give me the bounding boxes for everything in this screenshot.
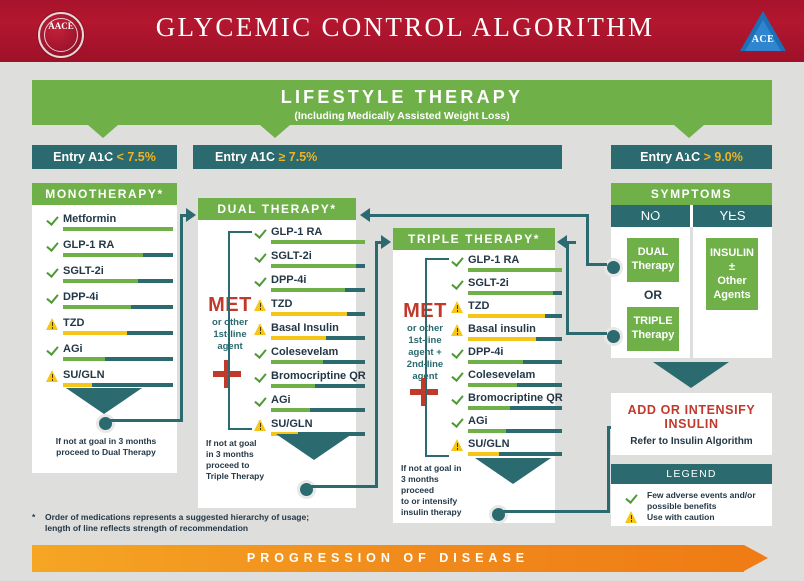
mono-4-caution-bang (52, 322, 54, 326)
med-label: Bromocriptine QR (468, 392, 563, 404)
progression-label: PROGRESSION OF DISEASE (32, 545, 744, 572)
med-strength-bar (468, 429, 562, 433)
legend-caution-bang (631, 515, 633, 519)
legend-title: LEGEND (611, 464, 772, 484)
progression-arrow-icon (744, 545, 768, 571)
insulin-title-line1: ADD OR INTENSIFY (611, 403, 772, 417)
dual-2-check-glyph (254, 274, 266, 287)
monotherapy-title: MONOTHERAPY* (32, 183, 177, 205)
med-label: Basal insulin (468, 323, 536, 335)
med-strength-fill (271, 384, 315, 388)
symptoms-yes-notch-icon (722, 205, 744, 214)
footnote-line2: length of line reflects strength of reco… (45, 523, 462, 534)
med-strength-fill (468, 314, 545, 318)
med-label: TZD (468, 300, 489, 312)
line-dual-to-triple-h (310, 485, 378, 488)
line-triple-to-insulin-h (502, 510, 610, 513)
med-strength-fill (468, 268, 562, 272)
med-label: Colesevelam (271, 346, 338, 358)
triple-8-caution-icon (451, 439, 465, 452)
aace-logo-icon: AACE (38, 12, 84, 58)
triple-3-caution-dot (457, 333, 459, 335)
triple-8-caution-dot (457, 448, 459, 450)
triple-therapy-card: TRIPLE THERAPY* MET or other1st-lineagen… (393, 228, 555, 523)
med-strength-bar (468, 360, 562, 364)
dual-8-caution-bang (260, 423, 262, 427)
line-symdual-v (586, 214, 589, 266)
med-strength-fill (468, 452, 499, 456)
triple-down-arrow-icon (475, 458, 551, 484)
med-strength-fill (63, 357, 105, 361)
med-strength-bar (271, 288, 365, 292)
dual-6-check-glyph (254, 370, 266, 383)
line-symtriple-h2 (566, 241, 576, 244)
dual-therapy-title: DUAL THERAPY* (198, 198, 356, 220)
med-strength-bar (63, 383, 173, 387)
symptoms-no-dual-option[interactable]: DUAL Therapy (627, 238, 679, 282)
med-strength-fill (468, 429, 506, 433)
dual-2-check-icon (254, 275, 268, 288)
symptoms-yes-line2: ± (706, 260, 758, 274)
triple-therapy-title: TRIPLE THERAPY* (393, 228, 555, 250)
algorithm-poster: AACE GLYCEMIC CONTROL ALGORITHM ACE LIFE… (0, 0, 804, 581)
legend-caution-icon (625, 511, 639, 524)
med-strength-bar (63, 279, 173, 283)
med-strength-fill (468, 360, 523, 364)
symptoms-no-notch-icon (640, 205, 662, 214)
med-label: SU/GLN (63, 369, 105, 381)
page-title: GLYCEMIC CONTROL ALGORITHM (110, 12, 700, 43)
med-strength-bar (468, 291, 562, 295)
lifestyle-title: LIFESTYLE THERAPY (32, 80, 772, 108)
triple-7-check-glyph (451, 415, 463, 428)
dual-8-caution-dot (260, 428, 262, 430)
entry-a1c-gt-90-value: > 9.0% (704, 150, 743, 164)
symptoms-yes-insulin-option[interactable]: INSULIN ± Other Agents (706, 238, 758, 310)
med-label: GLP-1 RA (468, 254, 519, 266)
med-label: SGLT-2i (468, 277, 509, 289)
page-header: AACE GLYCEMIC CONTROL ALGORITHM ACE (0, 0, 804, 62)
med-label: SU/GLN (468, 438, 510, 450)
med-strength-fill (63, 331, 127, 335)
med-strength-bar (271, 312, 365, 316)
line-mono-to-dual-h (109, 419, 183, 422)
entry-a1c-lt-75-value: < 7.5% (117, 150, 156, 164)
legend-check-glyph (625, 491, 637, 504)
legend-check-line2: possible benefits (647, 501, 765, 512)
med-label: DPP-4i (63, 291, 98, 303)
med-strength-fill (63, 253, 143, 257)
dual-1-check-icon (254, 251, 268, 264)
mono-6-caution-icon (46, 370, 60, 383)
mono-2-check-icon (46, 266, 60, 279)
med-strength-bar (63, 305, 173, 309)
med-strength-bar (63, 357, 173, 361)
med-strength-bar (468, 452, 562, 456)
mono-4-caution-icon (46, 318, 60, 331)
mono-2-check-glyph (46, 265, 58, 278)
aace-logo-label: AACE (40, 22, 82, 31)
dual-note-line1: If not at goal (206, 438, 268, 449)
med-strength-fill (468, 337, 536, 341)
triple-note: If not at goal in 3 months proceed to or… (401, 463, 471, 518)
med-label: GLP-1 RA (63, 239, 114, 251)
triple-note-line3: to or intensify (401, 496, 471, 507)
med-label: SU/GLN (271, 418, 313, 430)
arrow-symtriple-into-triple-icon (557, 235, 567, 249)
mono-0-check-icon (46, 214, 60, 227)
med-label: Bromocriptine QR (271, 370, 366, 382)
med-strength-bar (468, 268, 562, 272)
dual-down-arrow-icon (276, 434, 352, 460)
dual-1-check-glyph (254, 250, 266, 263)
med-strength-bar (271, 408, 365, 412)
med-label: TZD (271, 298, 292, 310)
symptoms-no-dual-line1: DUAL (627, 245, 679, 259)
entry3-notch-icon (677, 145, 703, 156)
monotherapy-connector-dot (96, 414, 115, 433)
arrow-lifestyle-to-entry3-icon (674, 125, 704, 138)
med-strength-fill (63, 279, 138, 283)
symptoms-dual-connector-dot (604, 258, 623, 277)
dual-6-check-icon (254, 371, 268, 384)
med-strength-fill (468, 383, 517, 387)
dual-note-line2: in 3 months (206, 449, 268, 460)
symptoms-or-label: OR (627, 288, 679, 302)
line-triple-to-insulin-v (607, 426, 610, 513)
symptoms-no-triple-option[interactable]: TRIPLE Therapy (627, 307, 679, 351)
monotherapy-note: If not at goal in 3 months proceed to Du… (46, 436, 166, 458)
med-strength-fill (63, 305, 131, 309)
entry2-notch-icon (263, 145, 289, 156)
triple-connector-dot (489, 505, 508, 524)
symptoms-no-triple-line1: TRIPLE (627, 314, 679, 328)
triple-2-caution-dot (457, 310, 459, 312)
footnote-line1: Order of medications represents a sugges… (45, 512, 462, 523)
mono-1-check-glyph (46, 239, 58, 252)
dual-7-check-glyph (254, 394, 266, 407)
med-strength-bar (63, 227, 173, 231)
triple-note-line1: If not at goal in (401, 463, 471, 474)
arrow-into-dual-icon (186, 208, 196, 222)
med-strength-fill (271, 240, 365, 244)
dual-0-check-glyph (254, 226, 266, 239)
symptoms-down-arrow-icon (653, 362, 729, 388)
med-strength-bar (271, 336, 365, 340)
legend-check-text: Few adverse events and/or possible benef… (647, 490, 765, 511)
med-label: Basal Insulin (271, 322, 339, 334)
mono-0-check-glyph (46, 213, 58, 226)
ace-logo-icon: ACE (740, 11, 786, 53)
triple-1-check-glyph (451, 277, 463, 290)
med-label: DPP-4i (271, 274, 306, 286)
dual-8-caution-icon (254, 419, 268, 432)
triple-1-check-icon (451, 278, 465, 291)
dual-note: If not at goal in 3 months proceed to Tr… (206, 438, 268, 482)
med-strength-bar (468, 337, 562, 341)
footnote-marker: * (32, 512, 35, 523)
lifestyle-subtitle: (Including Medically Assisted Weight Los… (32, 110, 772, 122)
med-strength-bar (468, 314, 562, 318)
triple-3-caution-icon (451, 324, 465, 337)
med-strength-bar (63, 331, 173, 335)
line-symtriple-h1 (566, 332, 607, 335)
med-strength-bar (271, 384, 365, 388)
triple-4-check-glyph (451, 346, 463, 359)
line-symdual-h1 (586, 263, 607, 266)
med-label: GLP-1 RA (271, 226, 322, 238)
dual-7-check-icon (254, 395, 268, 408)
dual-5-check-icon (254, 347, 268, 360)
med-strength-fill (63, 227, 173, 231)
symptoms-yes-line3: Other (706, 274, 758, 288)
med-label: SGLT-2i (63, 265, 104, 277)
insulin-title-line2: INSULIN (611, 417, 772, 431)
dual-3-caution-icon (254, 299, 268, 312)
triple-2-caution-bang (457, 305, 459, 309)
entry-a1c-ge-75: Entry A1C ≥ 7.5% (193, 145, 562, 169)
symptoms-yes-line1: INSULIN (706, 246, 758, 260)
dual-3-caution-bang (260, 303, 262, 307)
symptoms-title: SYMPTOMS (611, 183, 772, 205)
dual-4-caution-icon (254, 323, 268, 336)
symptoms-no-triple-line2: Therapy (627, 328, 679, 342)
dual-bracket (228, 231, 252, 430)
triple-6-check-icon (451, 393, 465, 406)
ace-logo-label: ACE (740, 34, 786, 45)
med-strength-fill (468, 406, 510, 410)
mono-3-check-glyph (46, 291, 58, 304)
dual-3-caution-dot (260, 308, 262, 310)
legend-card: LEGEND Few adverse events and/or possibl… (611, 464, 772, 526)
legend-check-line1: Few adverse events and/or (647, 490, 765, 501)
med-strength-bar (63, 253, 173, 257)
add-intensify-insulin-card: ADD OR INTENSIFY INSULIN Refer to Insuli… (611, 393, 772, 455)
monotherapy-note-text: If not at goal in 3 months proceed to Du… (56, 436, 157, 457)
med-strength-fill (63, 383, 92, 387)
footnote: * Order of medications represents a sugg… (32, 512, 462, 534)
mono-5-check-icon (46, 344, 60, 357)
arrow-lifestyle-to-entry2-icon (260, 125, 290, 138)
mono-6-caution-bang (52, 374, 54, 378)
triple-0-check-glyph (451, 254, 463, 267)
med-strength-fill (271, 408, 310, 412)
med-label: Colesevelam (468, 369, 535, 381)
med-label: SGLT-2i (271, 250, 312, 262)
med-strength-fill (271, 312, 347, 316)
triple-0-check-icon (451, 255, 465, 268)
med-strength-bar (271, 240, 365, 244)
arrow-into-triple-icon (381, 235, 391, 249)
symptoms-no-dual-line2: Therapy (627, 259, 679, 273)
dual-connector-dot (297, 480, 316, 499)
entry1-notch-icon (91, 145, 117, 156)
triple-8-caution-bang (457, 443, 459, 447)
med-label: AGi (63, 343, 83, 355)
mono-5-check-glyph (46, 343, 58, 356)
triple-note-line2: 3 months proceed (401, 474, 471, 496)
triple-5-check-icon (451, 370, 465, 383)
monotherapy-down-arrow-icon (66, 388, 142, 414)
dual-4-caution-dot (260, 332, 262, 334)
med-strength-bar (468, 406, 562, 410)
line-symdual-h2 (368, 214, 589, 217)
med-strength-bar (468, 383, 562, 387)
dual-note-line4: Triple Therapy (206, 471, 268, 482)
med-label: AGi (468, 415, 488, 427)
med-strength-fill (271, 360, 323, 364)
triple-3-caution-bang (457, 328, 459, 332)
legend-check-icon (625, 492, 639, 505)
triple-5-check-glyph (451, 369, 463, 382)
lifestyle-therapy-banner: LIFESTYLE THERAPY (Including Medically A… (32, 80, 772, 125)
triple-4-check-icon (451, 347, 465, 360)
mono-6-caution-dot (52, 379, 54, 381)
triple-7-check-icon (451, 416, 465, 429)
med-strength-bar (271, 264, 365, 268)
med-strength-bar (271, 360, 365, 364)
triple-6-check-glyph (451, 392, 463, 405)
insulin-subtitle: Refer to Insulin Algorithm (611, 436, 772, 447)
triple-2-caution-icon (451, 301, 465, 314)
symptoms-yes-line4: Agents (706, 288, 758, 302)
line-symtriple-v (566, 241, 569, 335)
arrow-symdual-into-dual-icon (360, 208, 370, 222)
symptoms-divider (690, 227, 693, 358)
dual-0-check-icon (254, 227, 268, 240)
med-strength-fill (271, 264, 356, 268)
dual-5-check-glyph (254, 346, 266, 359)
med-strength-fill (271, 288, 345, 292)
symptoms-triple-connector-dot (604, 327, 623, 346)
arrow-lifestyle-to-entry1-icon (88, 125, 118, 138)
med-label: AGi (271, 394, 291, 406)
med-label: Metformin (63, 213, 116, 225)
triple-bracket (425, 258, 449, 457)
med-strength-fill (271, 336, 326, 340)
legend-caution-text: Use with caution (647, 512, 765, 523)
dual-4-caution-bang (260, 327, 262, 331)
symptoms-card: SYMPTOMS NO YES DUAL Therapy OR TRIPLE T… (611, 183, 772, 358)
med-label: DPP-4i (468, 346, 503, 358)
legend-caution-dot (631, 520, 633, 522)
dual-note-line3: proceed to (206, 460, 268, 471)
line-mono-to-dual-v (180, 214, 183, 422)
mono-3-check-icon (46, 292, 60, 305)
med-strength-fill (468, 291, 553, 295)
mono-4-caution-dot (52, 327, 54, 329)
line-dual-to-triple-v (375, 241, 378, 487)
mono-1-check-icon (46, 240, 60, 253)
med-label: TZD (63, 317, 84, 329)
dual-therapy-card: DUAL THERAPY* MET or other1st-lineagent … (198, 198, 356, 508)
